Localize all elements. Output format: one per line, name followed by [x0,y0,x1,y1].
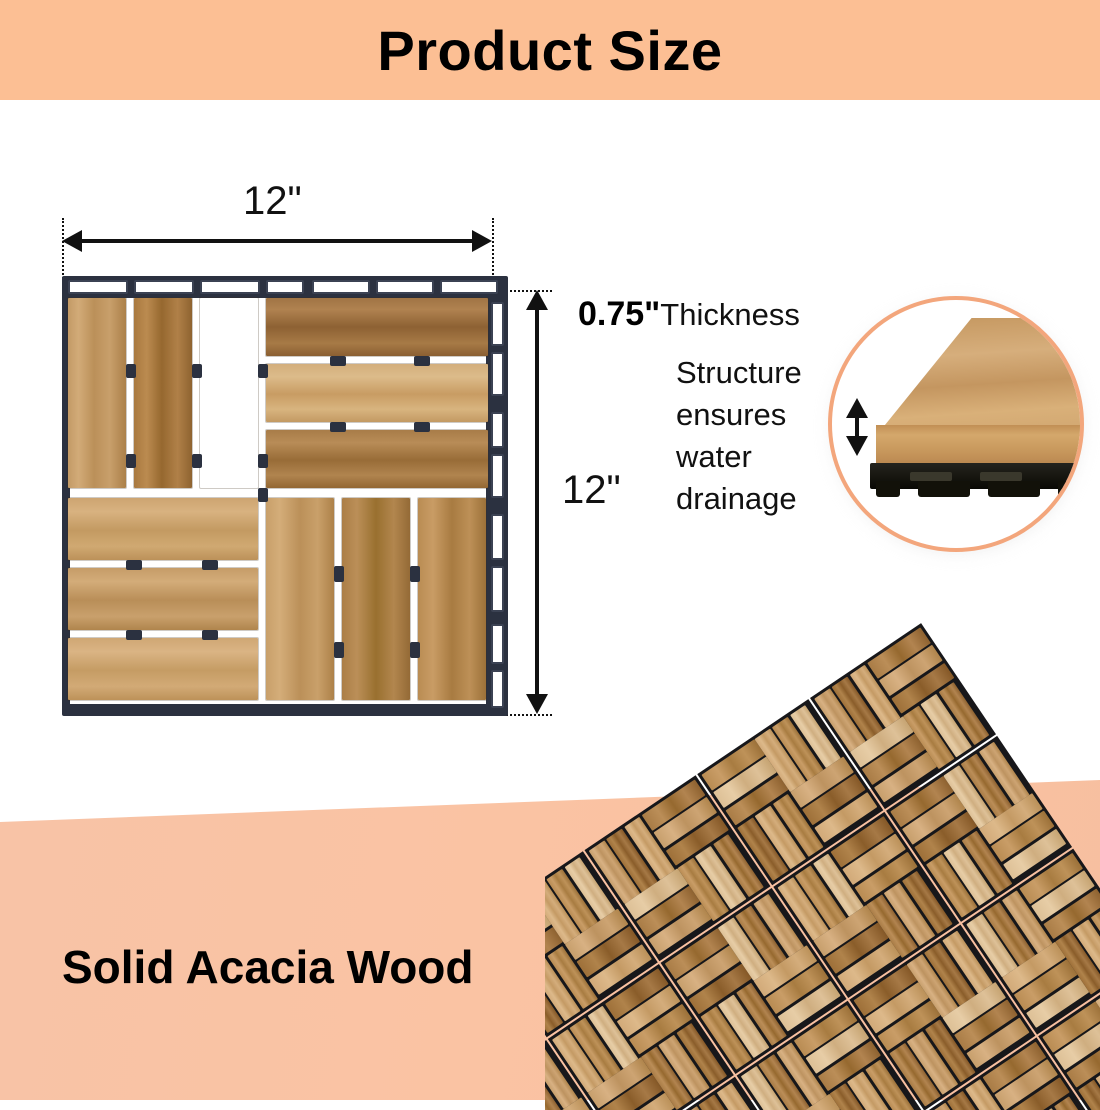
connector-bl-h1 [126,560,142,570]
connector-br-v2 [334,642,344,658]
plastic-base [870,463,1084,489]
rail-slot-right-7 [491,624,504,664]
rail-slot-top-7 [440,280,498,294]
width-arrowhead-left [62,230,82,252]
rail-slot-right-4 [491,454,504,498]
thickness-arrowhead-bottom [846,436,868,456]
slat-tr-2 [266,364,488,422]
slat-tl-2 [134,298,192,488]
slat-bl-2 [68,568,258,630]
base-foot-4 [1058,481,1084,497]
width-arrowhead-right [472,230,492,252]
thickness-callout: 0.75" Thickness [578,295,800,334]
connector-bl-h2 [202,560,218,570]
connector-tr-h4 [414,422,430,432]
base-foot-1 [876,481,900,497]
thickness-arrowhead-top [846,398,868,418]
slat-br-1 [266,498,334,700]
rail-slot-top-1 [68,280,128,294]
rail-slot-top-2 [134,280,194,294]
rail-slot-top-5 [312,280,370,294]
width-dimension-label: 12" [243,179,302,224]
connector-br-v3 [410,566,420,582]
deck-assembly-photo [545,600,1100,1110]
slab-top-surface [876,318,1084,436]
slab-front-edge [876,425,1084,465]
rail-slot-right-8 [491,670,504,708]
rail-slot-right-5 [491,514,504,560]
rail-slot-top-3 [200,280,260,294]
slat-bl-1 [68,498,258,560]
base-foot-3 [988,481,1040,497]
width-dimension-line [72,239,482,243]
height-dimension-line [535,300,539,704]
drainage-description: Structure ensures water drainage [676,352,846,520]
connector-tr-h1 [330,356,346,366]
rail-slot-top-6 [376,280,434,294]
connector-bl-h4 [202,630,218,640]
connector-tr-h3 [330,422,346,432]
thickness-value: 0.75" [578,295,660,334]
connector-mid-v3 [192,364,202,378]
rail-slot-right-6 [491,566,504,612]
rail-slot-right-2 [491,352,504,396]
connector-bl-h3 [126,630,142,640]
deck-rotated-grid [545,622,1100,1110]
base-slot-1 [910,472,952,481]
connector-mid-v5 [258,364,268,378]
slat-bl-3 [68,638,258,700]
slat-br-3 [418,498,486,700]
base-foot-2 [918,481,970,497]
connector-tr-h2 [414,356,430,366]
slat-tl-3 [200,298,258,488]
connector-br-v4 [410,642,420,658]
footer-title: Solid Acacia Wood [62,940,474,994]
connector-mid-v6 [258,454,268,468]
rail-slot-right-3 [491,412,504,448]
connector-mid-v1 [126,364,136,378]
thickness-label: Thickness [660,297,800,333]
slat-tr-3 [266,430,488,488]
slat-tr-1 [266,298,488,356]
product-tile-topview [62,276,508,716]
connector-mid-v4 [192,454,202,468]
height-arrowhead-top [526,290,548,310]
base-slot-2 [980,472,1022,481]
rail-slot-right-1 [491,302,504,346]
connector-mid-v2 [126,454,136,468]
frame-rail-bottom [62,704,492,716]
page-title: Product Size [0,0,1100,100]
connector-br-v1 [334,566,344,582]
connector-center-v [258,488,268,502]
rail-slot-top-4 [266,280,304,294]
height-dimension-label: 12" [562,468,621,513]
edge-profile-inset [828,296,1084,552]
slat-tl-1 [68,298,126,488]
slat-br-2 [342,498,410,700]
